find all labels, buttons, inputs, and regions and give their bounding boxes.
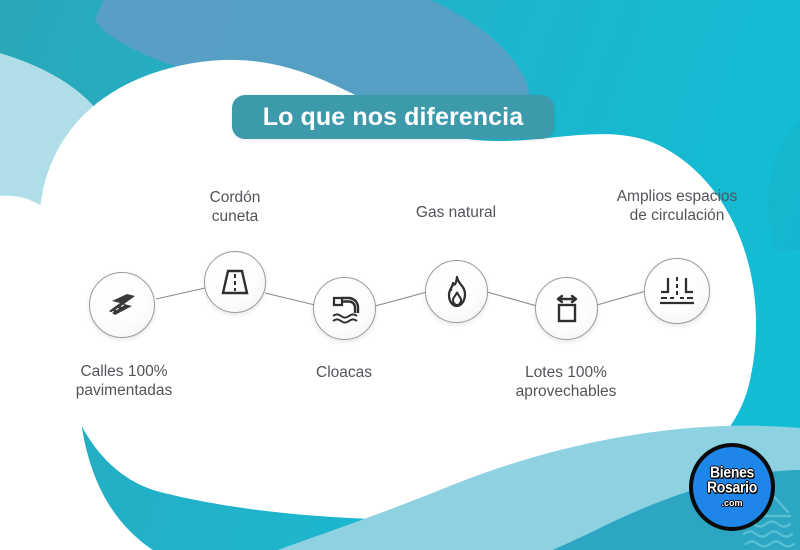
watermark-line-2: Rosario (707, 479, 757, 496)
connector-2 (265, 293, 315, 305)
connector-4 (487, 292, 537, 306)
feature-circle-lotes[interactable] (535, 277, 598, 340)
connector-5 (597, 291, 646, 305)
feature-label-lotes: Lotes 100% aprovechables (471, 363, 661, 401)
infographic-canvas: Lo que nos diferencia Calles 100% pavime… (0, 0, 800, 550)
connector-1 (156, 288, 205, 299)
feature-label-gas-natural: Gas natural (361, 203, 551, 222)
watermark-logo[interactable]: Bienes Rosario .com (689, 443, 775, 531)
road-lane-icon (216, 263, 254, 301)
sewage-pipe-icon (325, 289, 365, 329)
feature-circle-gas-natural[interactable] (425, 260, 488, 323)
feature-circle-calles[interactable] (89, 272, 155, 338)
flame-icon (438, 273, 476, 311)
watermark-text: Bienes Rosario .com (689, 443, 775, 531)
road-intersection-icon (656, 270, 698, 312)
feature-label-espacios-circulacion: Amplios espacios de circulación (582, 187, 772, 225)
lot-measure-icon (548, 290, 586, 328)
feature-label-calles: Calles 100% pavimentadas (29, 362, 219, 400)
feature-circle-espacios-circulacion[interactable] (644, 258, 710, 324)
watermark-line-3: .com (721, 498, 742, 509)
feature-label-cloacas: Cloacas (249, 363, 439, 382)
winding-road-icon (102, 285, 142, 325)
feature-circle-cloacas[interactable] (313, 277, 376, 340)
connector-3 (375, 292, 427, 306)
feature-label-cordon-cuneta: Cordón cuneta (140, 188, 330, 226)
feature-circle-cordon-cuneta[interactable] (204, 251, 266, 313)
